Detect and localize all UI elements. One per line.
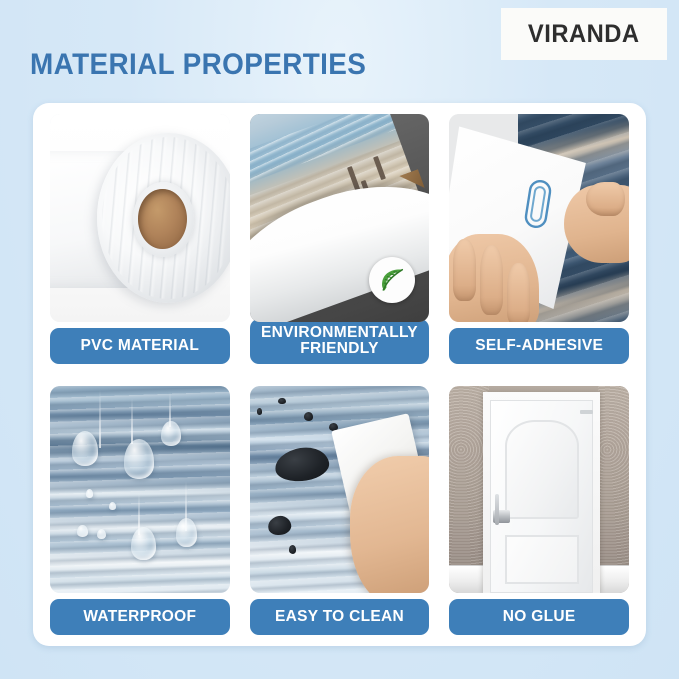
feature-panel: PVC MATERIAL [33, 103, 646, 646]
feature-card-environmentally-friendly[interactable]: ENVIRONMENTALLYFRIENDLY [250, 114, 430, 364]
feature-card-no-glue[interactable]: NO GLUE [449, 386, 629, 636]
material-properties-infographic: MATERIAL PROPERTIES VIRANDA PVC MATERIAL [0, 0, 679, 679]
eco-peel-image [250, 114, 430, 322]
feature-label-waterproof: WATERPROOF [50, 599, 230, 635]
feature-grid: PVC MATERIAL [50, 114, 629, 635]
water-droplets-image [50, 386, 230, 594]
feature-label-environmentally-friendly: ENVIRONMENTALLYFRIENDLY [250, 319, 430, 364]
brand-name: VIRANDA [528, 20, 640, 49]
feature-card-waterproof[interactable]: WATERPROOF [50, 386, 230, 636]
brand-logo-box: VIRANDA [501, 8, 667, 60]
feature-card-pvc-material[interactable]: PVC MATERIAL [50, 114, 230, 364]
feature-label-self-adhesive: SELF-ADHESIVE [449, 328, 629, 364]
cleaning-cloth-image [250, 386, 430, 594]
feature-card-self-adhesive[interactable]: SELF-ADHESIVE [449, 114, 629, 364]
eco-leaf-badge-icon [369, 257, 415, 303]
feature-label-pvc-material: PVC MATERIAL [50, 328, 230, 364]
door-image [449, 386, 629, 594]
page-title: MATERIAL PROPERTIES [30, 48, 366, 82]
header: MATERIAL PROPERTIES VIRANDA [0, 0, 679, 103]
pvc-roll-image [50, 114, 230, 322]
feature-label-easy-to-clean: EASY TO CLEAN [250, 599, 430, 635]
feature-card-easy-to-clean[interactable]: EASY TO CLEAN [250, 386, 430, 636]
feature-label-no-glue: NO GLUE [449, 599, 629, 635]
self-adhesive-peel-image [449, 114, 629, 322]
